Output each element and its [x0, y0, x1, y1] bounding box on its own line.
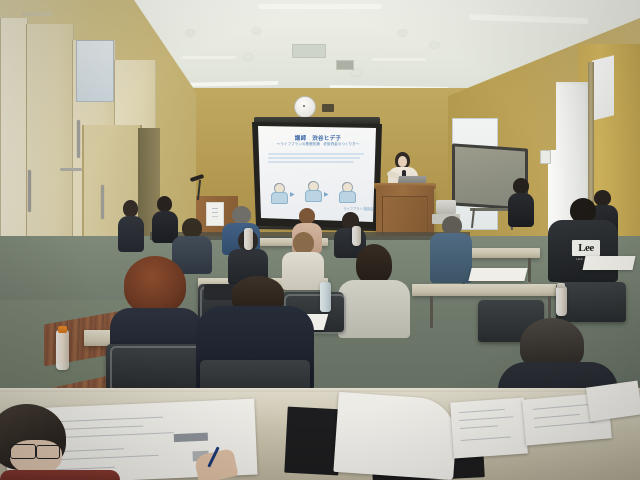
attendee-hair: [157, 196, 172, 212]
ceiling-light-strip: [372, 58, 426, 61]
door-handle[interactable]: [28, 170, 31, 212]
ceiling-fixture: [244, 54, 253, 60]
attendee-torso: [118, 216, 144, 252]
attendee-curly-hair: [124, 256, 186, 314]
door-pull-bar[interactable]: [60, 168, 82, 171]
eyeglasses: [36, 445, 60, 459]
attendee-hair: [123, 200, 138, 217]
figure-body: [339, 191, 356, 203]
water-bottle: [56, 330, 69, 370]
lee-logo-text: Lee: [578, 242, 594, 254]
handout-figure: [174, 433, 208, 442]
wall-louver-vent: [76, 40, 114, 102]
handout-text-lines: [450, 397, 528, 458]
figure-body: [271, 192, 288, 204]
slide-figure-person: [338, 182, 355, 201]
attendee-torso: [0, 470, 120, 480]
presenter-face: [398, 156, 407, 167]
ceiling-light-strip: [182, 56, 236, 59]
ceiling-fixture: [252, 28, 261, 34]
bottle-cap: [557, 283, 565, 288]
water-bottle: [556, 286, 567, 316]
attendee: [118, 200, 144, 250]
door-handle[interactable]: [77, 120, 80, 158]
turning-page[interactable]: [333, 392, 458, 480]
attendee-hair: [182, 218, 202, 238]
ceiling-vent: [336, 60, 354, 70]
window-curtain-top: [592, 55, 614, 120]
wall-clock: [294, 96, 316, 118]
slide-title: 講師 渋谷ヒデ子: [272, 134, 364, 142]
handout-paper: [583, 256, 636, 270]
slide-subtitle: ～ライフプランの基礎知識 老後資金のつくり方～: [268, 142, 368, 147]
door-handle[interactable]: [101, 185, 104, 219]
ceiling-light-strip: [258, 4, 383, 9]
door-trim: [22, 12, 52, 16]
seminar-room-photograph: 講師 渋谷ヒデ子 ～ライフプランの基礎知識 老後資金のつくり方～ ▶ ▶: [0, 0, 640, 480]
attendee-hair: [356, 244, 392, 284]
bottle-cap: [58, 326, 67, 333]
attendee-torso: [338, 280, 410, 338]
table: [412, 284, 562, 296]
slide-body-line: [268, 157, 360, 159]
attendee-hair: [513, 178, 529, 194]
attendee-hair: [232, 206, 251, 224]
projector-unit: [436, 200, 456, 214]
table-leg: [430, 296, 433, 328]
slide-body-line: [268, 161, 354, 163]
attendee-hair: [299, 208, 315, 224]
slide-figure-person: [270, 183, 287, 202]
handout-paper: [450, 397, 528, 458]
thermos-bottle: [320, 282, 331, 312]
ceiling-fixture: [430, 42, 439, 48]
slide-figure-person: [304, 181, 321, 200]
chair-frame: [110, 346, 202, 392]
lee-logo-patch: Lee: [572, 240, 600, 256]
figure-body: [305, 190, 322, 202]
light-switch[interactable]: [540, 150, 551, 164]
water-bottle: [244, 228, 253, 250]
handout-paper: [468, 268, 527, 281]
ceiling-vent: [292, 44, 326, 58]
water-bottle: [352, 226, 361, 246]
slide-arrow-icon: ▶: [324, 191, 329, 198]
attendee: [508, 178, 534, 224]
ceiling-fixture: [398, 30, 407, 36]
attendee-torso: [430, 233, 472, 283]
slide-arrow-icon: ▶: [290, 191, 295, 198]
handout-paper: [586, 381, 640, 422]
ceiling-fixture: [352, 70, 361, 76]
attendee-hair: [293, 232, 314, 254]
eyeglasses: [10, 444, 36, 459]
attendee: [430, 216, 472, 282]
attendee: [338, 244, 410, 336]
attendee-torso: [508, 193, 534, 227]
slide-body-line: [268, 153, 364, 155]
ceiling-fixture: [186, 30, 195, 36]
table-leg: [528, 258, 531, 282]
slide-illustrations: ▶ ▶: [264, 178, 370, 210]
attendee-foreground: [0, 404, 120, 480]
wall-mounted-box: [322, 104, 334, 112]
clock-hands: [303, 105, 305, 107]
